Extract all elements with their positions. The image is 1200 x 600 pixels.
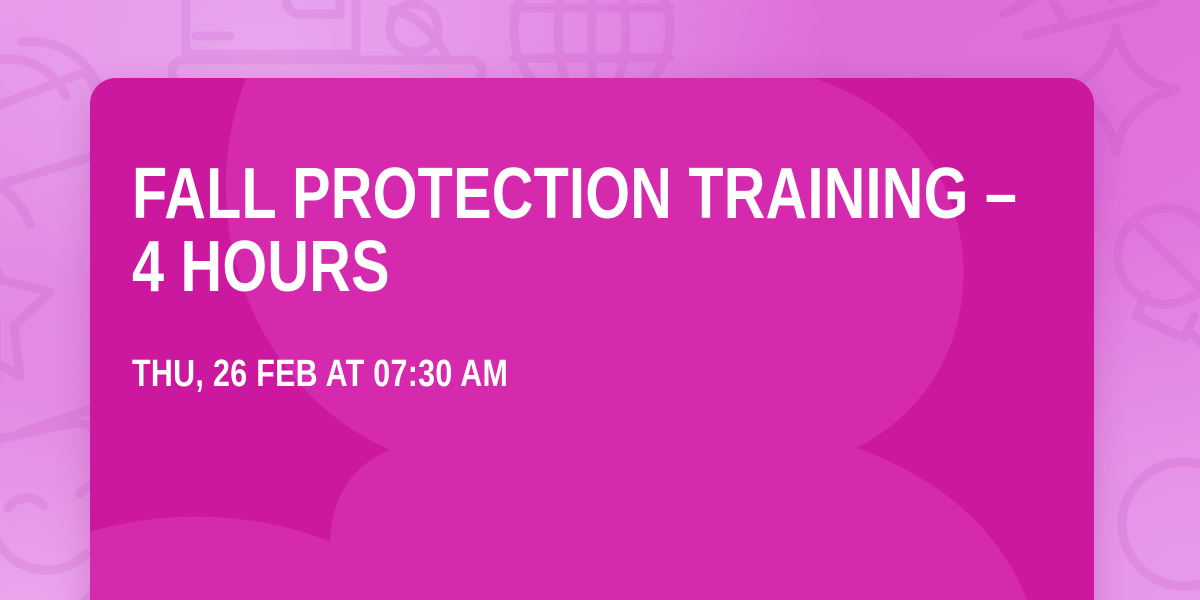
laptop-icon <box>172 0 482 84</box>
event-datetime: Thu, 26 Feb at 07:30 AM <box>132 355 1034 393</box>
ticket-icon <box>1004 0 1156 36</box>
ring-icon <box>1122 462 1200 586</box>
event-poster: Fall Protection Training – 4 Hours Thu, … <box>0 0 1200 600</box>
star-icon <box>0 236 50 376</box>
microphone-icon <box>1118 208 1200 392</box>
card-content: Fall Protection Training – 4 Hours Thu, … <box>132 158 1034 393</box>
ring-icon <box>390 4 438 52</box>
event-card[interactable]: Fall Protection Training – 4 Hours Thu, … <box>90 78 1094 600</box>
event-title: Fall Protection Training – 4 Hours <box>132 158 1034 303</box>
